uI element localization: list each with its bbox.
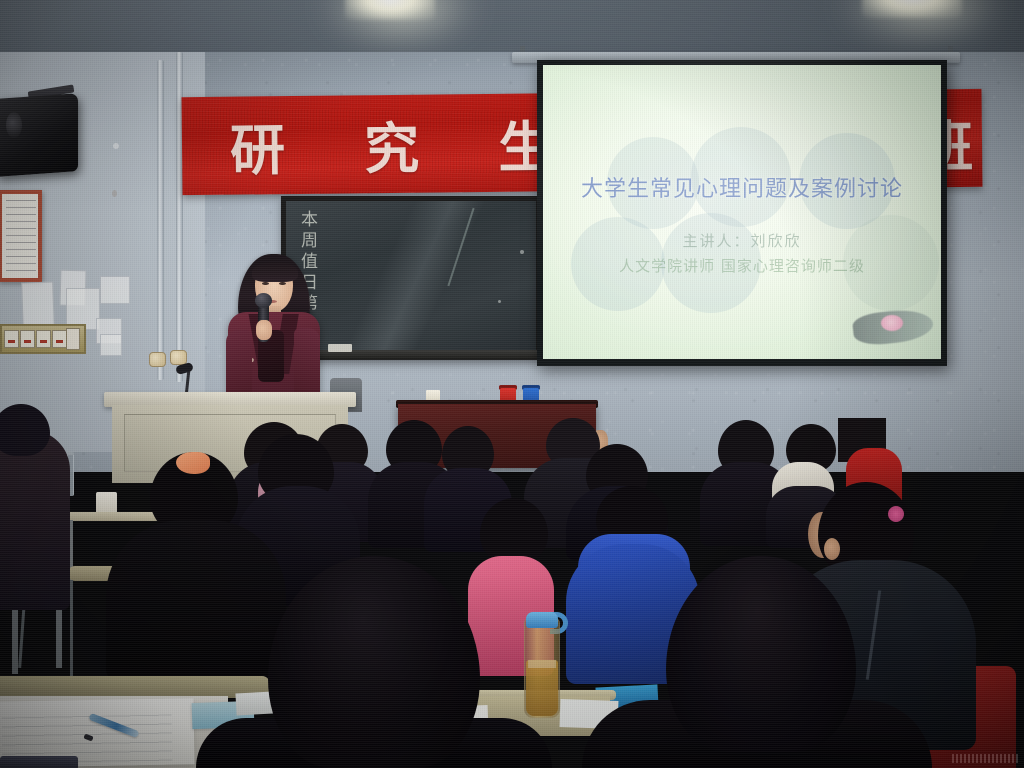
- presenter-eye-right: [279, 282, 286, 285]
- chair-frame: [70, 580, 73, 676]
- ceiling-light-right: [862, 0, 962, 18]
- ceiling-light-left: [345, 0, 435, 20]
- classroom-photo: 研 究 生 班 本周值日第 大学生常见心理问题及案例讨论 主讲人：刘欣欣 人文学…: [0, 0, 1024, 768]
- presenter-hand: [256, 320, 272, 340]
- book: [0, 756, 78, 768]
- chalk-dust: [498, 300, 501, 303]
- student-ear: [824, 538, 840, 560]
- hair-clip: [888, 506, 904, 522]
- hair-clip: [176, 452, 210, 474]
- bottle-label: [528, 660, 556, 668]
- switch-2[interactable]: [20, 330, 35, 348]
- wall-mark: [113, 143, 119, 149]
- slide-title: 大学生常见心理问题及案例讨论: [543, 171, 941, 203]
- wall-mark: [112, 190, 117, 197]
- wall-socket-1: [149, 352, 166, 367]
- presenter-eye-left: [262, 282, 269, 285]
- presenter-fringe: [252, 262, 298, 282]
- wall-conduit-pipe-1: [157, 60, 164, 380]
- slide-corner-flower-icon: [881, 315, 903, 331]
- bottle-liquid: [526, 660, 558, 716]
- student-head: [480, 498, 548, 564]
- certificate-text-lines: [6, 200, 36, 272]
- presenter-arm-left: [226, 330, 252, 400]
- switch-5[interactable]: [66, 328, 80, 350]
- microphone-head: [255, 293, 272, 308]
- wall-paper: [100, 334, 122, 356]
- projector-screen: 大学生常见心理问题及案例讨论 主讲人：刘欣欣 人文学院讲师 国家心理咨询师二级: [543, 65, 941, 359]
- switch-mark: [56, 340, 63, 343]
- student-body: [106, 520, 286, 680]
- front-desk-backrest: [0, 676, 270, 698]
- slide-presenter: 主讲人：刘欣欣: [543, 230, 941, 251]
- switch-3[interactable]: [36, 330, 51, 348]
- slide-affiliation: 人文学院讲师 国家心理咨询师二级: [543, 255, 941, 276]
- wall-paper: [100, 276, 130, 304]
- student-body-left-edge: [0, 430, 70, 610]
- speaker-cone: [6, 112, 22, 138]
- switch-mark: [8, 340, 15, 343]
- switch-mark: [24, 340, 31, 343]
- presenter-arm-right: [294, 328, 320, 400]
- chair-leg: [12, 606, 18, 674]
- switch-1[interactable]: [4, 330, 19, 348]
- watermark: [952, 754, 1018, 763]
- chair-leg: [56, 606, 62, 668]
- bottle-cap: [526, 612, 558, 628]
- switch-mark: [40, 340, 47, 343]
- chalk-dust: [520, 250, 524, 254]
- switch-4[interactable]: [52, 330, 67, 348]
